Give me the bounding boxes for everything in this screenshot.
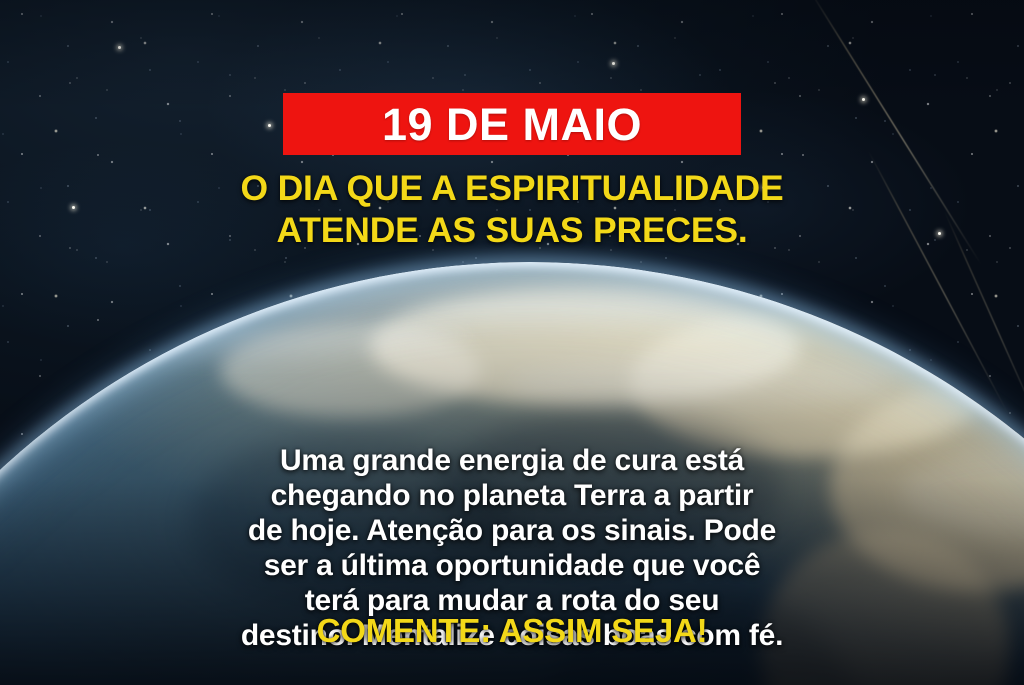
call-to-action-label: COMENTE: ASSIM SEJA! (317, 612, 708, 649)
body-line-2: chegando no planeta Terra a partir (56, 479, 968, 514)
headline-line-2: ATENDE AS SUAS PRECES. (40, 210, 984, 252)
call-to-action: COMENTE: ASSIM SEJA! (0, 613, 1024, 649)
date-banner: 19 DE MAIO (283, 93, 741, 155)
headline: O DIA QUE A ESPIRITUALIDADE ATENDE AS SU… (0, 168, 1024, 252)
date-banner-label: 19 DE MAIO (382, 102, 642, 147)
body-line-1: Uma grande energia de cura está (56, 444, 968, 479)
body-line-3: de hoje. Atenção para os sinais. Pode (56, 514, 968, 549)
poster-content: 19 DE MAIO O DIA QUE A ESPIRITUALIDADE A… (0, 0, 1024, 685)
headline-line-1: O DIA QUE A ESPIRITUALIDADE (40, 168, 984, 210)
body-line-4: ser a última oportunidade que você (56, 549, 968, 584)
poster-canvas: 19 DE MAIO O DIA QUE A ESPIRITUALIDADE A… (0, 0, 1024, 685)
